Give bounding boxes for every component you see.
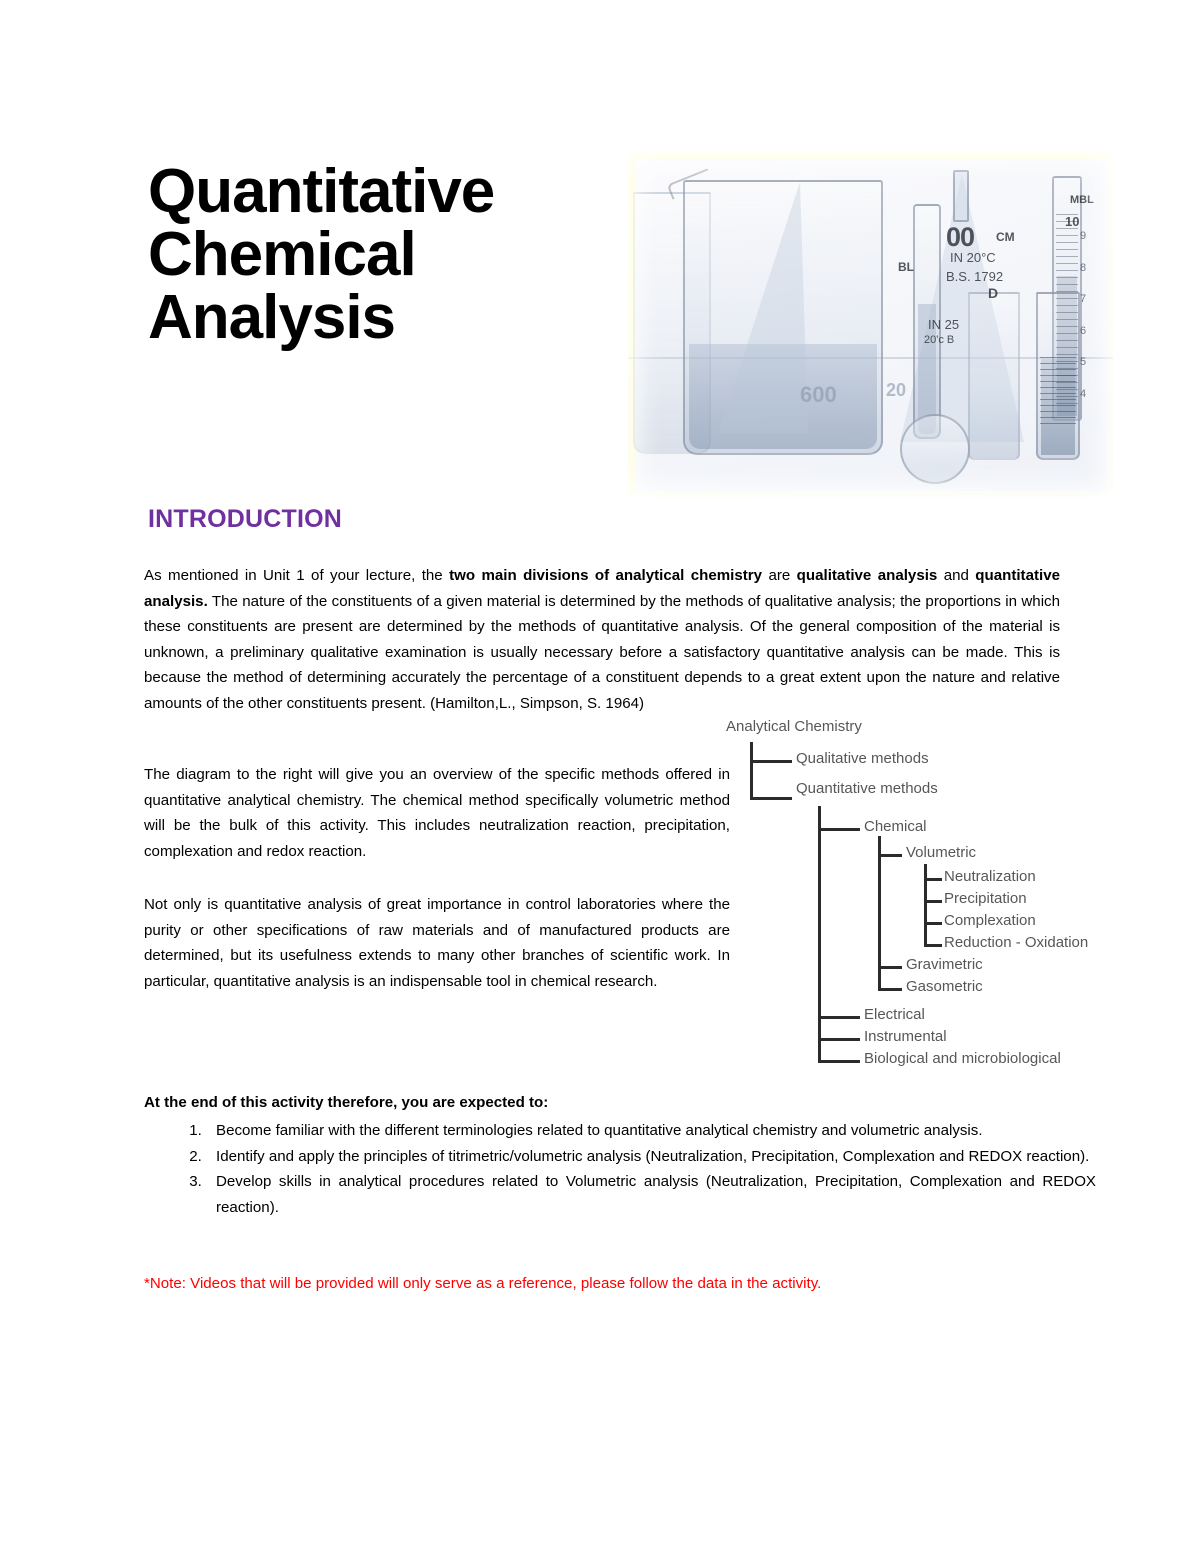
tree-connector-electrical xyxy=(818,1016,860,1019)
body-text: The nature of the constituents of a give… xyxy=(144,593,1060,712)
tree-node-gasometric: Gasometric xyxy=(906,978,983,995)
emphasized-text: qualitative analysis xyxy=(797,567,938,584)
tree-node-qualitative-methods: Qualitative methods xyxy=(796,750,929,767)
glassware-brand-mark: BL xyxy=(898,260,914,274)
title-line-1: Quantitative xyxy=(148,160,618,223)
flask-temperature-mark: IN 20°C xyxy=(950,250,996,265)
objective-item: Become familiar with the different termi… xyxy=(206,1118,1096,1144)
glass-funnel xyxy=(718,182,808,434)
burette-scale-7: 7 xyxy=(1080,293,1102,305)
burette-brand-mark: MBL xyxy=(1070,194,1094,206)
intro-paragraph-1: As mentioned in Unit 1 of your lecture, … xyxy=(144,563,1060,716)
body-text: and xyxy=(937,567,975,584)
tree-node-gravimetric: Gravimetric xyxy=(906,956,983,973)
burette-scale-5: 5 xyxy=(1080,356,1102,368)
tree-connector-biological xyxy=(818,1060,860,1063)
tree-node-biological: Biological and microbiological xyxy=(864,1050,1061,1067)
tree-connector-neutralization xyxy=(924,878,942,881)
tree-connector-precipitation xyxy=(924,900,942,903)
flask-class-mark: D xyxy=(988,285,998,301)
tree-connector-gasometric xyxy=(878,988,902,991)
cylinder-graduations xyxy=(1040,357,1076,427)
section-heading-introduction: INTRODUCTION xyxy=(148,505,342,534)
title-line-2: Chemical xyxy=(148,223,618,286)
title-line-3: Analysis xyxy=(148,286,618,349)
tree-connector-chemical xyxy=(818,828,860,831)
objectives-list: Become familiar with the different termi… xyxy=(144,1118,1096,1220)
tree-node-instrumental: Instrumental xyxy=(864,1028,947,1045)
emphasized-text: two main divisions of analytical chemist… xyxy=(449,567,762,584)
tree-node-precipitation: Precipitation xyxy=(944,890,1027,907)
objective-item: Develop skills in analytical procedures … xyxy=(206,1169,1096,1220)
tree-connector-volumetric xyxy=(878,854,902,857)
photo-canvas: 00 CM IN 20°C B.S. 1792 D IN 25 20'c B 6… xyxy=(628,152,1113,497)
burette-scale-6: 6 xyxy=(1080,325,1102,337)
tree-node-neutralization: Neutralization xyxy=(944,868,1036,885)
tree-connector-root-vertical xyxy=(750,742,753,800)
beaker-graduation-mark: 20 xyxy=(886,380,906,401)
burette-scale-4: 4 xyxy=(1080,388,1102,400)
burette-scale-numbers: 9 8 7 6 5 4 xyxy=(1080,230,1102,400)
body-text: As mentioned in Unit 1 of your lecture, … xyxy=(144,567,449,584)
tree-node-complexation: Complexation xyxy=(944,912,1036,929)
laboratory-glassware-photo: 00 CM IN 20°C B.S. 1792 D IN 25 20'c B 6… xyxy=(628,152,1113,497)
burette-scale-9: 9 xyxy=(1080,230,1102,242)
tree-node-electrical: Electrical xyxy=(864,1006,925,1023)
tube-temperature-mark: 20'c B xyxy=(924,334,954,346)
tree-connector-quantitative-vertical xyxy=(818,806,821,1061)
erlenmeyer-neck xyxy=(953,170,969,222)
tree-node-chemical: Chemical xyxy=(864,818,927,835)
flask-units-mark: CM xyxy=(996,230,1015,244)
tree-connector-qualitative xyxy=(750,760,792,763)
intro-paragraph-3: Not only is quantitative analysis of gre… xyxy=(144,892,730,994)
beaker-volume-mark: 600 xyxy=(800,382,837,408)
burette-scale-8: 8 xyxy=(1080,262,1102,274)
tree-node-reduction-oxidation: Reduction - Oxidation xyxy=(944,934,1088,951)
tree-node-quantitative-methods: Quantitative methods xyxy=(796,780,938,797)
document-page: Quantitative Chemical Analysis 00 CM IN … xyxy=(0,0,1200,1553)
tree-connector-reduction-oxidation xyxy=(924,944,942,947)
tree-node-analytical-chemistry: Analytical Chemistry xyxy=(726,718,862,735)
tree-connector-quantitative xyxy=(750,797,792,800)
objectives-title: At the end of this activity therefore, y… xyxy=(144,1094,548,1111)
flask-volume-mark: 00 xyxy=(946,222,974,253)
tube-in-mark: IN 25 xyxy=(928,317,959,332)
tree-connector-gravimetric xyxy=(878,966,902,969)
flask-standard-mark: B.S. 1792 xyxy=(946,269,1003,284)
tree-connector-complexation xyxy=(924,922,942,925)
tree-connector-instrumental xyxy=(818,1038,860,1041)
round-bottom-flask xyxy=(900,414,970,484)
page-title: Quantitative Chemical Analysis xyxy=(148,160,618,350)
tree-node-volumetric: Volumetric xyxy=(906,844,976,861)
tree-connector-volumetric-vertical xyxy=(924,864,927,944)
objective-item: Identify and apply the principles of tit… xyxy=(206,1144,1096,1170)
body-text: are xyxy=(762,567,797,584)
intro-paragraph-2: The diagram to the right will give you a… xyxy=(144,762,730,864)
reference-note: *Note: Videos that will be provided will… xyxy=(144,1272,1044,1296)
background-cylinder xyxy=(968,292,1020,460)
burette-volume-mark: 10 xyxy=(1065,214,1079,229)
analytical-chemistry-classification-tree: Analytical Chemistry Qualitative methods… xyxy=(726,718,1118,1070)
